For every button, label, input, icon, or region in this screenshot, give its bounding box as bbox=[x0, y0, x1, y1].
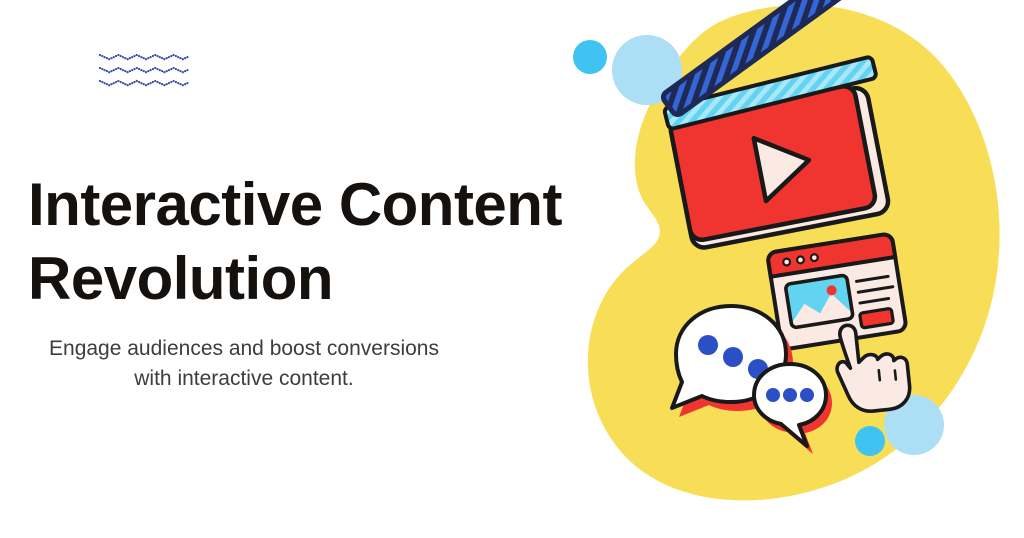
small-bubble-dots bbox=[766, 388, 814, 402]
zigzag-dots-icon bbox=[98, 48, 190, 92]
banner-root: Interactive Content Revolution Engage au… bbox=[0, 0, 1024, 538]
cta-button[interactable] bbox=[860, 308, 894, 328]
browser-window-icon bbox=[767, 233, 907, 350]
image-thumbnail-icon bbox=[781, 274, 857, 328]
small-cyan-circle-bottom bbox=[855, 426, 885, 456]
illustration-area bbox=[545, 0, 1024, 538]
page-title: Interactive Content Revolution bbox=[28, 168, 572, 316]
text-column: Interactive Content Revolution Engage au… bbox=[0, 168, 572, 394]
page-subtitle: Engage audiences and boost conversions w… bbox=[28, 334, 460, 394]
small-cyan-circle-top bbox=[573, 40, 607, 74]
